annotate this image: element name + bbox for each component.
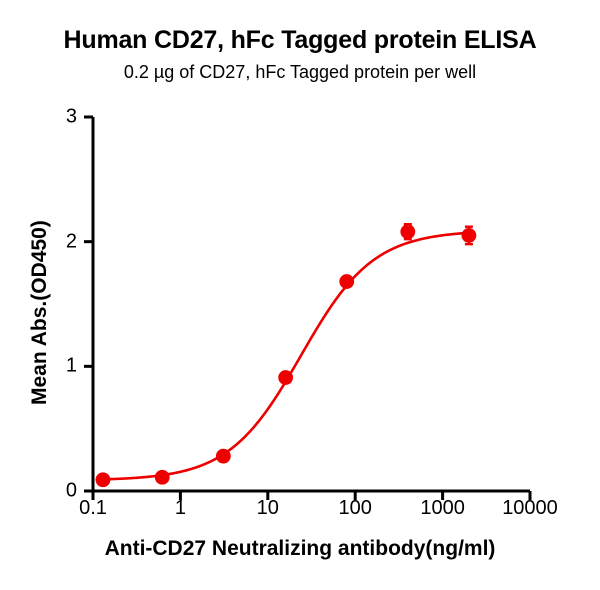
data-point-markers xyxy=(96,224,477,487)
x-tick-label: 10 xyxy=(257,497,279,520)
tick-marks xyxy=(84,117,530,500)
x-tick-label: 100 xyxy=(339,497,372,520)
data-point xyxy=(462,228,477,243)
x-tick-label: 1000 xyxy=(420,497,465,520)
x-axis-title: Anti-CD27 Neutralizing antibody(ng/ml) xyxy=(0,537,600,561)
x-tick-label: 10000 xyxy=(502,497,558,520)
data-point xyxy=(278,370,293,385)
data-point xyxy=(400,224,415,239)
axis-lines xyxy=(93,117,530,491)
elisa-chart-figure: Human CD27, hFc Tagged protein ELISA 0.2… xyxy=(0,0,600,590)
fitted-curve xyxy=(103,233,469,480)
y-tick-label: 0 xyxy=(47,480,77,503)
data-point xyxy=(96,472,111,487)
y-tick-label: 3 xyxy=(47,106,77,129)
data-point xyxy=(216,449,231,464)
data-point xyxy=(155,470,170,485)
x-tick-label: 0.1 xyxy=(79,497,107,520)
y-axis-title: Mean Abs.(OD450) xyxy=(28,220,52,405)
data-point xyxy=(339,274,354,289)
x-tick-label: 1 xyxy=(175,497,186,520)
